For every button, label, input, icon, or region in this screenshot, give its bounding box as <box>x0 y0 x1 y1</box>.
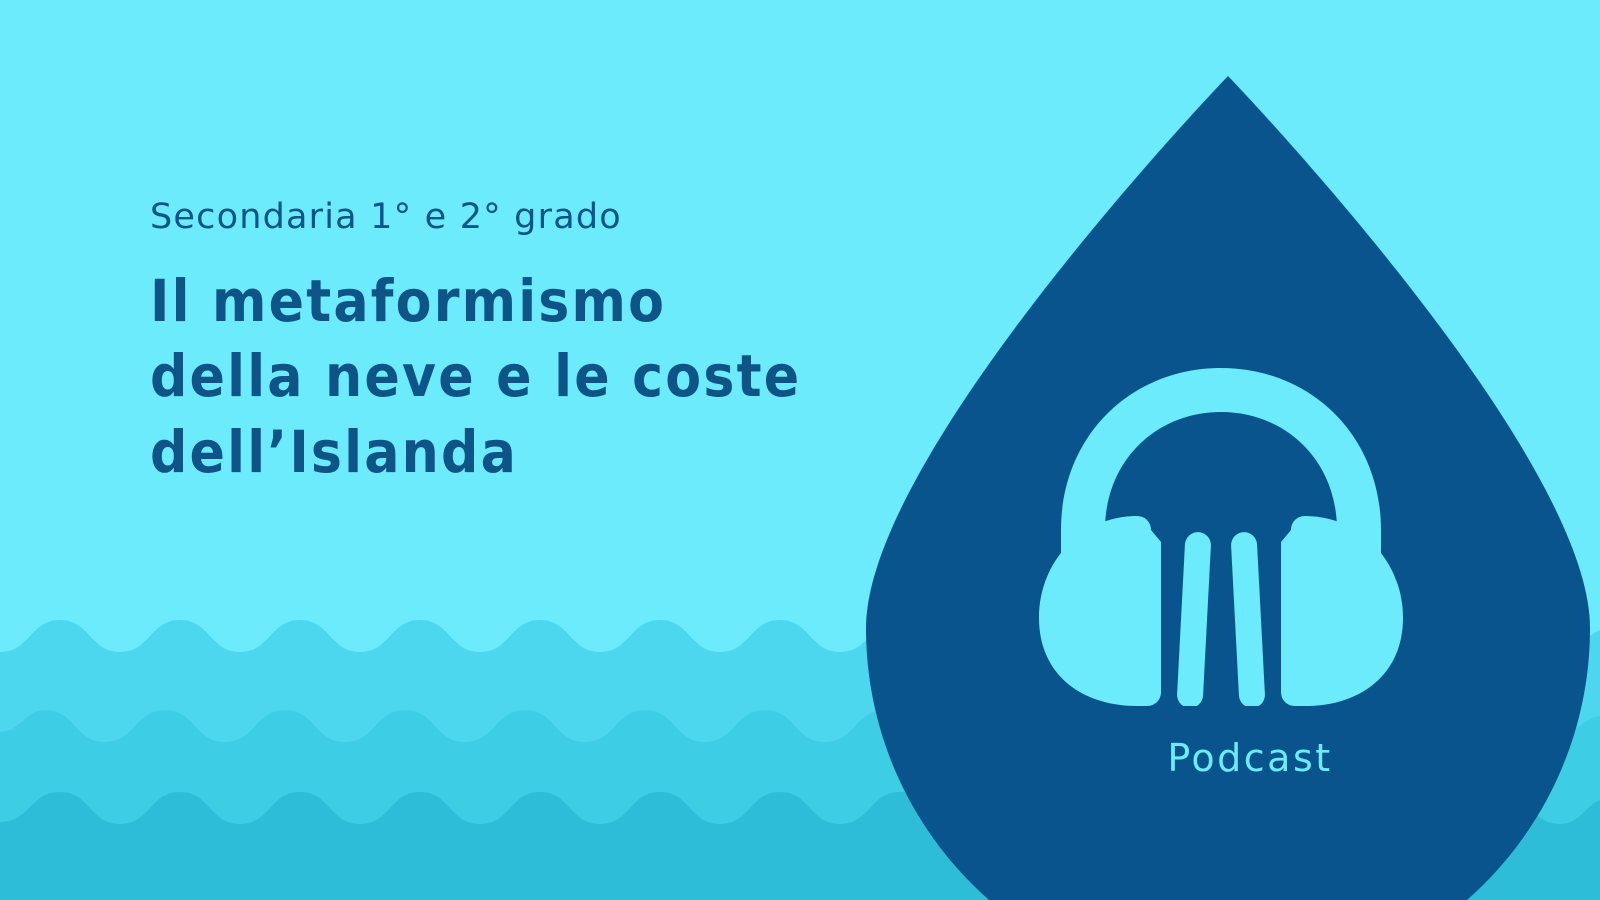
headphones-earcup-left <box>1039 516 1161 706</box>
school-level-eyebrow: Secondaria 1° e 2° grado <box>150 196 870 238</box>
headphones-bar-right <box>1230 531 1265 706</box>
headphones-icon <box>1035 362 1407 706</box>
page-title-line-3: dell’Islanda <box>150 415 870 490</box>
text-block: Secondaria 1° e 2° grado Il metaformismo… <box>150 196 870 490</box>
page-title-line-2: della neve e le coste <box>150 339 870 414</box>
podcast-cover-card: Podcast Secondaria 1° e 2° grado Il meta… <box>0 0 1600 900</box>
headphones-earcup-right <box>1281 516 1403 706</box>
headphones-bar-left <box>1176 531 1211 706</box>
media-type-label: Podcast <box>1135 736 1365 780</box>
page-title-line-1: Il metaformismo <box>150 264 870 339</box>
page-title: Il metaformismo della neve e le coste de… <box>150 264 870 490</box>
